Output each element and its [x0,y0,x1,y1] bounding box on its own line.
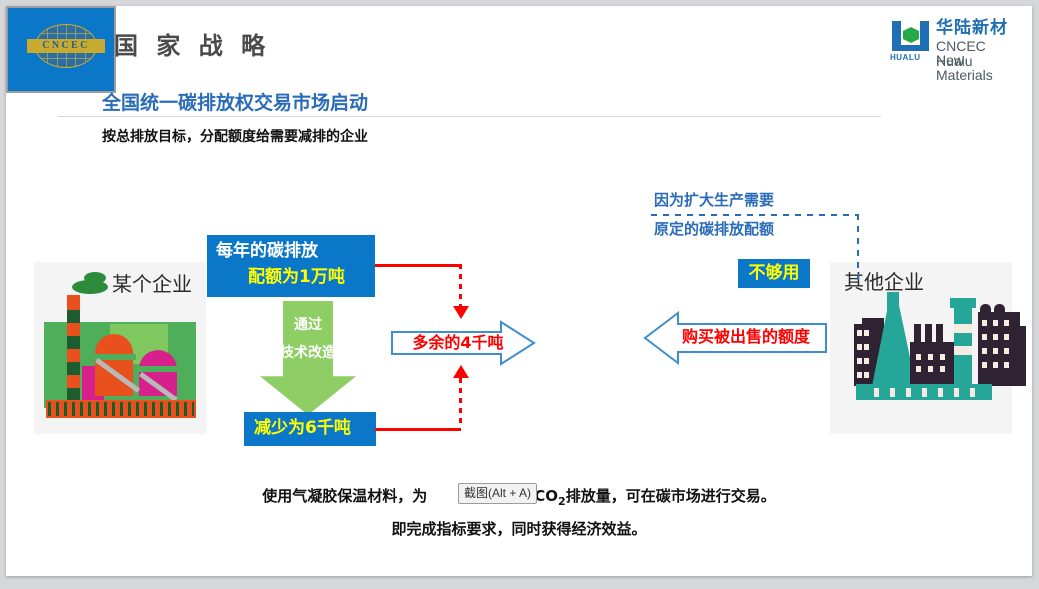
reduced-emission-box: 减少为6千吨 [244,412,376,446]
annual-emission-line2: 配额为1万吨 [248,265,345,289]
red-connector-top [375,264,461,267]
factory-icon [910,342,954,386]
surplus-arrow: 多余的4千吨 [391,320,536,366]
page-subtitle: 按总排放目标，分配额度给需要减排的企业 [102,126,368,148]
green-arrow-line1: 通过 [260,315,356,335]
footer-line2: 即完成指标要求，同时获得经济效益。 [6,517,1032,541]
slide-canvas: CNCEC 国 家 战 略 HUALU 华陆新材 CNCEC Hualu New… [6,6,1032,576]
left-company-caption: 某个企业 [112,271,192,297]
red-arrowhead-up-icon [453,365,469,378]
carbon-market-line1: 碳市场 [6,10,1032,42]
carbon-market-line2: 出售 [6,44,1032,76]
red-dashed-down [459,264,462,311]
surplus-label: 多余的4千吨 [399,331,517,355]
left-company-image: 某个企业 [34,262,206,434]
page-title: 全国统一碳排放权交易市场启动 [102,90,368,116]
not-enough-box: 不够用 [738,259,810,288]
technology-upgrade-arrow: 通过 技术改造 [260,301,356,415]
note-dashed-horizontal [651,214,859,216]
red-connector-bottom [375,428,461,431]
footer-line1-part1: 使用气凝胶保温材料，为 [262,487,427,505]
snip-tooltip[interactable]: 截图(Alt + A) [458,483,537,504]
annual-emission-line1: 每年的碳排放 [216,239,318,263]
note-dashed-vertical [857,214,859,286]
not-enough-label: 不够用 [738,259,810,288]
right-company-image: 其他企业 [830,262,1012,434]
expansion-note-line2: 原定的碳排放配额 [654,218,774,240]
red-arrowhead-down-icon [453,306,469,319]
right-company-caption: 其他企业 [844,269,924,295]
smoke-icon [84,272,106,284]
footer-line1-sub: 2 [558,495,566,508]
reduced-emission-label: 减少为6千吨 [254,415,351,441]
title-divider [58,116,881,117]
buy-quota-arrow: 购买被出售的额度 [643,311,828,365]
buy-quota-label: 购买被出售的额度 [671,325,821,349]
chimney-icon [954,304,972,386]
annual-emission-box: 每年的碳排放 配额为1万吨 [207,235,375,297]
green-arrow-line2: 技术改造 [260,343,356,363]
expansion-note-line1: 因为扩大生产需要 [654,189,774,211]
carbon-market-box: 碳市场 出售 [6,6,116,93]
red-dashed-up [459,378,462,426]
footer-line1-part3: 排放量，可在碳市场进行交易。 [566,487,776,505]
